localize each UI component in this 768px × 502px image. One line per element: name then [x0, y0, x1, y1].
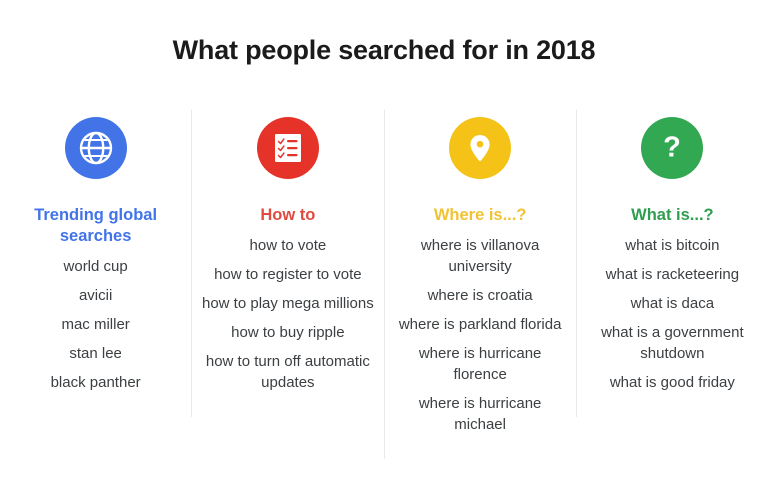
location-pin-icon-circle: [449, 117, 511, 179]
globe-icon: [76, 128, 116, 168]
list-item: how to turn off automatic updates: [202, 351, 374, 393]
list-item: where is hurricane michael: [394, 393, 566, 435]
list-item: where is villanova university: [394, 235, 566, 277]
list-item: how to vote: [202, 235, 374, 256]
list-item: mac miller: [10, 314, 182, 335]
location-pin-icon: [462, 130, 498, 166]
category-column-trending-global-searches: Trending global searches world cup avici…: [0, 110, 191, 417]
list-item: what is a government shutdown: [585, 322, 760, 364]
page-title: What people searched for in 2018: [0, 33, 768, 67]
category-column-how-to: How to how to vote how to register to vo…: [191, 110, 383, 417]
list-item: how to register to vote: [202, 264, 374, 285]
list-item: where is croatia: [394, 285, 566, 306]
list-item: what is racketeering: [585, 264, 760, 285]
checklist-icon: [271, 131, 305, 165]
list-item: how to play mega millions: [202, 293, 374, 314]
search-term-list: where is villanova university where is c…: [394, 235, 566, 443]
column-heading: Where is...?: [434, 205, 527, 226]
list-item: stan lee: [10, 343, 182, 364]
list-item: avicii: [10, 285, 182, 306]
column-heading: Trending global searches: [13, 205, 178, 247]
list-item: where is hurricane florence: [394, 343, 566, 385]
list-item: what is bitcoin: [585, 235, 760, 256]
list-item: what is daca: [585, 293, 760, 314]
category-column-where-is: Where is...? where is villanova universi…: [384, 110, 576, 459]
list-item: how to buy ripple: [202, 322, 374, 343]
svg-text:?: ?: [664, 132, 682, 164]
checklist-icon-circle: [257, 117, 319, 179]
list-item: world cup: [10, 256, 182, 277]
search-term-list: world cup avicii mac miller stan lee bla…: [10, 256, 182, 401]
question-mark-icon-circle: ?: [641, 117, 703, 179]
search-term-list: how to vote how to register to vote how …: [202, 235, 374, 401]
list-item: black panther: [10, 372, 182, 393]
column-heading: What is...?: [631, 205, 714, 226]
search-term-list: what is bitcoin what is racketeering wha…: [585, 235, 760, 401]
category-columns: Trending global searches world cup avici…: [0, 110, 768, 472]
column-heading: How to: [260, 205, 315, 226]
list-item: where is parkland florida: [394, 314, 566, 335]
globe-icon-circle: [65, 117, 127, 179]
list-item: what is good friday: [585, 372, 760, 393]
question-mark-icon: ?: [652, 128, 692, 168]
category-column-what-is: ? What is...? what is bitcoin what is ra…: [576, 110, 768, 417]
infographic-page: What people searched for in 2018 Trendin…: [0, 0, 768, 502]
